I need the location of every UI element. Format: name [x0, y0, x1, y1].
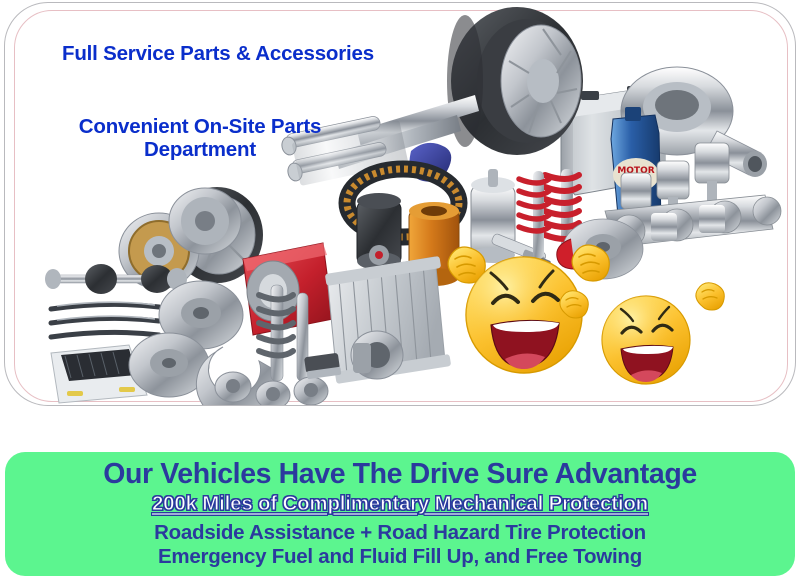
promo-subtitle-mechanical-protection: 200k Miles of Complimentary Mechanical P… [152, 492, 648, 516]
part-oil-filter [357, 193, 401, 270]
promo-title: Our Vehicles Have The Drive Sure Advanta… [5, 459, 795, 490]
part-ac-compressor [351, 331, 403, 379]
part-windshield-wiper-blades [51, 302, 159, 337]
promo-line-emergency-fuel: Emergency Fuel and Fluid Fill Up, and Fr… [5, 545, 795, 569]
part-cv-axle-shaft [45, 264, 187, 294]
laughing-emoji-small [560, 283, 724, 384]
part-alloy-wheel-and-tire [447, 7, 583, 155]
promo-line-roadside-assistance: Roadside Assistance + Road Hazard Tire P… [5, 521, 795, 545]
drive-sure-advantage-banner: Our Vehicles Have The Drive Sure Advanta… [5, 452, 795, 576]
emoji-small-fist-right [696, 283, 724, 310]
part-red-air-filter [243, 243, 333, 335]
headline-full-service-parts: Full Service Parts & Accessories [62, 43, 374, 66]
parts-panel: MOTOR OIL [4, 2, 796, 406]
part-brake-pads [304, 353, 341, 380]
part-flywheel [169, 188, 241, 254]
headline-convenient-onsite-parts: Convenient On-Site Parts Department [50, 116, 350, 162]
promo-banner-page: MOTOR OIL [0, 0, 800, 580]
emoji-fist-right [572, 245, 609, 281]
